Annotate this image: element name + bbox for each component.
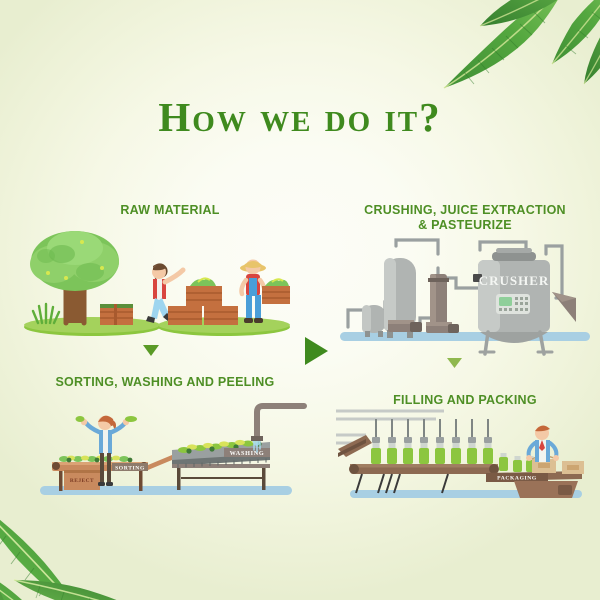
- filling-nozzles: [372, 419, 492, 443]
- tank-small: [362, 305, 386, 337]
- incline-conveyor: [338, 435, 372, 457]
- packaging-machine-label: PACKAGING: [497, 476, 537, 482]
- main-conveyor: [349, 464, 499, 493]
- illustration-raw-material: [22, 228, 292, 338]
- wooden-crate: [100, 304, 133, 325]
- triangle-right-icon: [305, 337, 328, 365]
- page-title: How we do it?: [0, 93, 600, 141]
- triangle-down-icon: [447, 358, 462, 368]
- step-label-crushing-juice-extraction: CRUSHING, JUICE EXTRACTION & PASTEURIZE: [340, 203, 590, 233]
- step-label-sorting-washing-peeling: SORTING, WASHING AND PEELING: [20, 375, 310, 390]
- crusher-nameplate-text: CRUSHER: [479, 273, 550, 288]
- worker-packing: [526, 425, 559, 462]
- reject-box-label: REJECT: [70, 478, 94, 484]
- washing-machine-label: WASHING: [230, 450, 265, 457]
- step-label-raw-material: RAW MATERIAL: [55, 203, 285, 218]
- pump-units: [388, 320, 459, 333]
- illustration-sorting-washing: SORTING REJECT: [26, 398, 306, 500]
- illustration-filling-packing: PACKAGING: [336, 405, 594, 502]
- reject-box: REJECT: [64, 470, 100, 490]
- triangle-down-icon: [143, 345, 159, 356]
- infographic-canvas: How we do it? RAW MATERIAL CRUSHING, JUI…: [0, 0, 600, 600]
- illustration-crushing-extraction: CRUSHER: [340, 232, 590, 357]
- sorting-machine-label: SORTING: [115, 466, 145, 472]
- washing-conveyor: WASHING: [172, 438, 270, 490]
- bottles-filling: [371, 443, 493, 464]
- grass-tuft: [33, 304, 59, 323]
- worker-carrying-crate: [240, 260, 290, 324]
